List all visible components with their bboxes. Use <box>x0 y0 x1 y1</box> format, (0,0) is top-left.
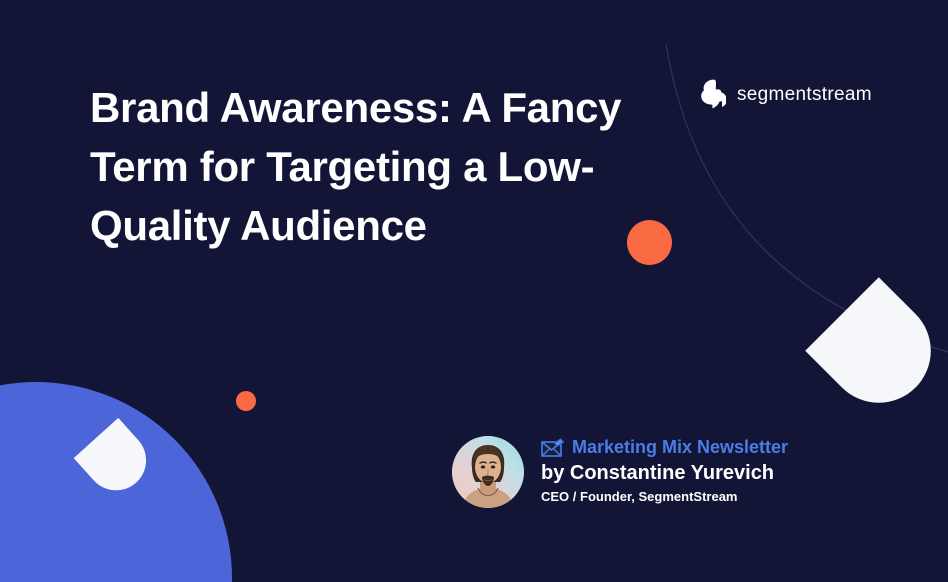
social-card: segmentstream Brand Awareness: A Fancy T… <box>0 0 948 582</box>
avatar <box>452 436 524 508</box>
white-half-circle-left <box>74 418 159 503</box>
brand-logo[interactable]: segmentstream <box>700 79 872 109</box>
blue-circle-blob <box>0 382 232 582</box>
page-title: Brand Awareness: A Fancy Term for Target… <box>90 78 630 255</box>
avatar-portrait-icon <box>452 436 524 508</box>
newsletter-line: Marketing Mix Newsletter <box>541 438 788 458</box>
author-block: Marketing Mix Newsletter by Constantine … <box>452 436 788 508</box>
author-name: by Constantine Yurevich <box>541 460 788 487</box>
author-role: CEO / Founder, SegmentStream <box>541 489 788 506</box>
incoming-envelope-icon <box>541 438 565 458</box>
orange-dot-small <box>236 391 256 411</box>
author-meta: Marketing Mix Newsletter by Constantine … <box>541 438 788 506</box>
newsletter-title: Marketing Mix Newsletter <box>572 438 788 458</box>
lightning-bolt-icon <box>700 79 726 109</box>
logo-wordmark: segmentstream <box>737 85 872 104</box>
orange-circle-large <box>627 220 672 265</box>
white-half-circle-right <box>805 277 948 424</box>
